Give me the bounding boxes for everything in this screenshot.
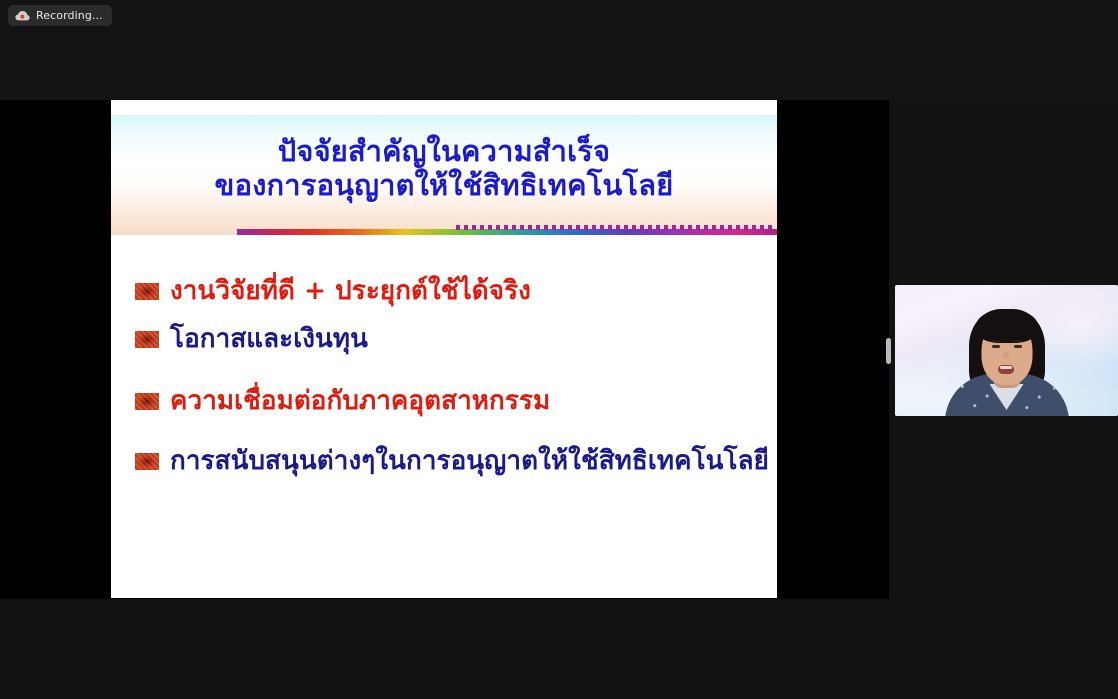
bullet-text-3: ความเชื่อมต่อกับภาคอุตสาหกรรม xyxy=(170,385,550,417)
meeting-stage: Recording... ปัจจัยสำคัญในความสำเร็จ ของ… xyxy=(0,0,1118,699)
participant-avatar xyxy=(895,285,1118,416)
slide-bullet-list: งานวิจัยที่ดี + ประยุกต์ใช้ได้จริง โอกาส… xyxy=(135,275,775,495)
participant-video-tile[interactable] xyxy=(895,285,1118,416)
eye-right xyxy=(1014,345,1022,348)
mouth xyxy=(998,365,1014,374)
cloud-record-icon xyxy=(15,10,30,21)
eyebrow-right xyxy=(1012,340,1023,342)
slide-title-line2: ของการอนุญาตให้ใช้สิทธิเทคโนโลยี xyxy=(111,168,777,202)
hair-front xyxy=(976,309,1038,343)
recording-badge[interactable]: Recording... xyxy=(8,5,112,26)
slide-title-line1: ปัจจัยสำคัญในความสำเร็จ xyxy=(278,134,610,168)
red-square-marker-icon xyxy=(135,453,159,470)
presentation-slide[interactable]: ปัจจัยสำคัญในความสำเร็จ ของการอนุญาตให้ใ… xyxy=(111,100,777,598)
eye-left xyxy=(992,345,1000,348)
list-item: การสนับสนุนต่างๆในการอนุญาตให้ใช้สิทธิเท… xyxy=(135,445,775,477)
list-item: ความเชื่อมต่อกับภาคอุตสาหกรรม xyxy=(135,385,775,417)
top-toolbar xyxy=(0,0,1118,100)
rainbow-divider-dots xyxy=(456,225,777,230)
eyebrow-left xyxy=(990,340,1001,342)
sidebar-drag-handle[interactable] xyxy=(886,338,891,364)
list-item: โอกาสและเงินทุน xyxy=(135,323,775,355)
nose xyxy=(1003,351,1009,359)
bottom-toolbar xyxy=(0,599,1118,699)
bullet-text-4: การสนับสนุนต่างๆในการอนุญาตให้ใช้สิทธิเท… xyxy=(170,445,769,477)
bullet-text-1: งานวิจัยที่ดี + ประยุกต์ใช้ได้จริง xyxy=(170,275,531,307)
red-square-marker-icon xyxy=(135,331,159,348)
recording-label: Recording... xyxy=(36,10,103,21)
red-square-marker-icon xyxy=(135,393,159,410)
slide-title: ปัจจัยสำคัญในความสำเร็จ ของการอนุญาตให้ใ… xyxy=(111,134,777,202)
list-item: งานวิจัยที่ดี + ประยุกต์ใช้ได้จริง xyxy=(135,275,775,307)
red-square-marker-icon xyxy=(135,283,159,300)
bullet-text-2: โอกาสและเงินทุน xyxy=(170,323,368,355)
